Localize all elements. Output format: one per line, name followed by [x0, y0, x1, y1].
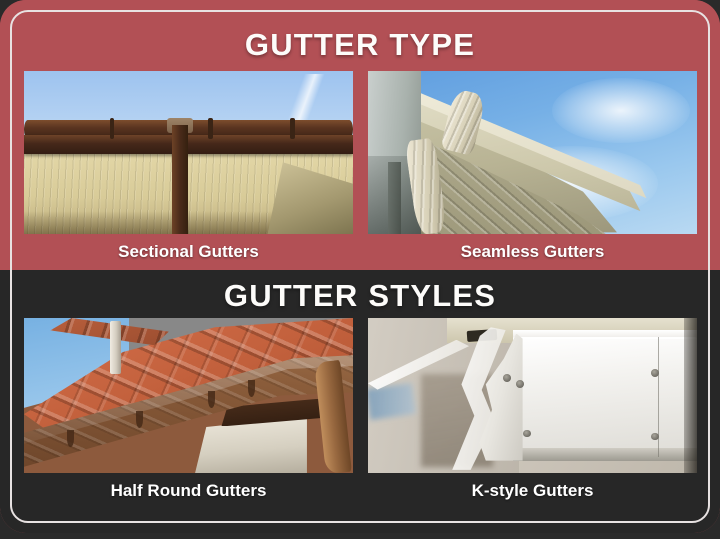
gutter-infographic-card: GUTTER TYPE Sectional Gutters: [0, 0, 720, 533]
caption-half-round-gutters: Half Round Gutters: [24, 481, 353, 501]
vent-pipe: [110, 321, 122, 374]
gutter-seam-line: [658, 337, 659, 458]
caption-sectional-gutters: Sectional Gutters: [24, 242, 353, 262]
section-title-gutter-type: GUTTER TYPE: [0, 27, 720, 63]
photo-seamless-gutters: [368, 71, 697, 234]
photo-seamless-gutters-image: [368, 71, 697, 234]
downspout-pipe: [172, 125, 188, 234]
fastener-screw: [503, 374, 511, 382]
fascia-board: [24, 135, 353, 155]
caption-seamless-gutters: Seamless Gutters: [368, 242, 697, 262]
photo-k-style-gutters: [368, 318, 697, 473]
photo-half-round-gutters: [24, 318, 353, 473]
section-title-gutter-styles: GUTTER STYLES: [0, 278, 720, 314]
caption-k-style-gutters: K-style Gutters: [368, 481, 697, 501]
gutter-hanger: [136, 411, 143, 428]
photo-sectional-gutters-image: [24, 71, 353, 234]
photo-k-style-gutters-image: [368, 318, 697, 473]
fastener-screw: [523, 430, 531, 438]
gutter-bottom-edge: [513, 448, 697, 460]
fastener-screw: [516, 380, 524, 388]
gutter-hanger: [248, 380, 255, 397]
photo-sectional-gutters: [24, 71, 353, 234]
k-style-gutter-face: [513, 337, 697, 458]
cloud: [552, 78, 690, 143]
gutter-bracket: [208, 118, 213, 139]
porch-post: [388, 162, 401, 234]
gutter-hanger: [67, 430, 74, 447]
edge-shadow: [684, 318, 697, 473]
photo-half-round-gutters-image: [24, 318, 353, 473]
gutter-bracket: [290, 118, 295, 139]
gutter-bracket: [110, 118, 115, 139]
